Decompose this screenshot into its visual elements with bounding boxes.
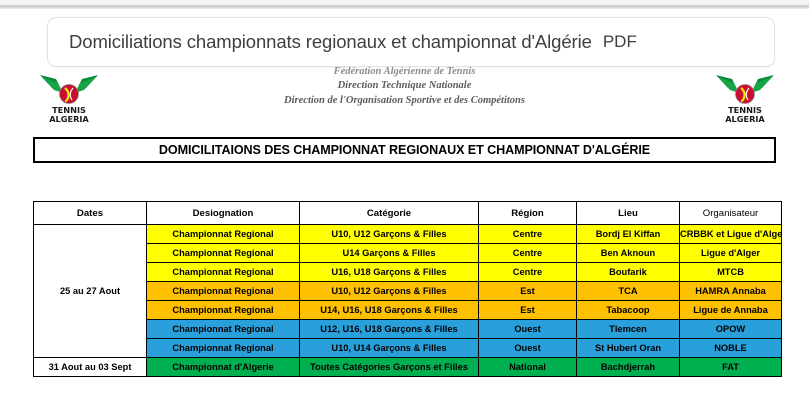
federation-heading-lines: Fédération Algérienne de Tennis Directio… xyxy=(0,65,809,108)
federation-subtitle-2: Direction de l'Organisation Sportive et … xyxy=(0,94,809,108)
overlay-title-text: Domiciliations championnats regionaux et… xyxy=(69,31,592,53)
table-body: 25 au 27 AoutChampionnat RegionalU10, U1… xyxy=(34,225,781,376)
cell-categorie: U10, U14 Garçons & Filles xyxy=(300,339,478,357)
col-header-dates: Dates xyxy=(34,202,146,224)
col-header-categorie: Catégorie xyxy=(300,202,478,224)
table-row: 31 Aout au 03 SeptChampionnat d'AlgerieT… xyxy=(34,358,781,376)
col-header-region: Région xyxy=(479,202,576,224)
cell-categorie: U12, U16, U18 Garçons & Filles xyxy=(300,320,478,338)
cell-dates: 31 Aout au 03 Sept xyxy=(34,358,146,376)
cell-lieu: TCA xyxy=(577,282,679,300)
cell-region: Est xyxy=(479,301,576,319)
cell-categorie: U14, U16, U18 Garçons & Filles xyxy=(300,301,478,319)
cell-designation: Championnat Regional xyxy=(147,282,299,300)
cell-region: Ouest xyxy=(479,339,576,357)
cell-designation: Championnat Regional xyxy=(147,301,299,319)
cell-lieu: St Hubert Oran xyxy=(577,339,679,357)
col-header-lieu: Lieu xyxy=(577,202,679,224)
document-title-text: DOMICILITAIONS DES CHAMPIONNAT REGIONAUX… xyxy=(159,143,650,157)
table-row: Championnat RegionalU10, U12 Garçons & F… xyxy=(34,282,781,300)
table-row: 25 au 27 AoutChampionnat RegionalU10, U1… xyxy=(34,225,781,243)
cell-region: National xyxy=(479,358,576,376)
table-row: Championnat RegionalU14 Garçons & Filles… xyxy=(34,244,781,262)
cell-designation: Championnat Regional xyxy=(147,263,299,281)
document-title-banner: DOMICILITAIONS DES CHAMPIONNAT REGIONAUX… xyxy=(33,137,776,163)
cell-region: Centre xyxy=(479,225,576,243)
cell-dates: 25 au 27 Aout xyxy=(34,225,146,357)
cell-region: Centre xyxy=(479,244,576,262)
federation-subtitle-1: Direction Technique Nationale xyxy=(0,79,809,93)
cell-designation: Championnat Regional xyxy=(147,339,299,357)
cell-organisateur: CRBBK et Ligue d'Alger xyxy=(680,225,781,243)
cell-designation: Championnat Regional xyxy=(147,320,299,338)
cell-lieu: Bachdjerrah xyxy=(577,358,679,376)
federation-name: Fédération Algérienne de Tennis xyxy=(0,65,809,79)
cell-organisateur: HAMRA Annaba xyxy=(680,282,781,300)
table-row: Championnat RegionalU14, U16, U18 Garçon… xyxy=(34,301,781,319)
table-row: Championnat RegionalU12, U16, U18 Garçon… xyxy=(34,320,781,338)
cell-region: Centre xyxy=(479,263,576,281)
cell-categorie: U10, U12 Garçons & Filles xyxy=(300,225,478,243)
cell-region: Est xyxy=(479,282,576,300)
schedule-table: Dates Desiognation Catégorie Région Lieu… xyxy=(33,201,782,377)
cell-lieu: Ben Aknoun xyxy=(577,244,679,262)
cell-categorie: U16, U18 Garçons & Filles xyxy=(300,263,478,281)
browser-chrome-strip xyxy=(0,0,809,9)
svg-text:ALGERIA: ALGERIA xyxy=(49,114,89,124)
cell-organisateur: Ligue de Annaba xyxy=(680,301,781,319)
cell-lieu: Boufarik xyxy=(577,263,679,281)
table-header-row: Dates Desiognation Catégorie Région Lieu… xyxy=(34,202,781,224)
cell-organisateur: NOBLE xyxy=(680,339,781,357)
col-header-organisateur: Organisateur xyxy=(680,202,781,224)
cell-lieu: Tlemcen xyxy=(577,320,679,338)
cell-region: Ouest xyxy=(479,320,576,338)
table-row: Championnat RegionalU10, U14 Garçons & F… xyxy=(34,339,781,357)
cell-categorie: U10, U12 Garçons & Filles xyxy=(300,282,478,300)
cell-lieu: Bordj El Kiffan xyxy=(577,225,679,243)
pdf-document-page: TENNIS ALGERIA TENNIS ALGERIA Fédération… xyxy=(0,9,809,402)
cell-designation: Championnat Regional xyxy=(147,225,299,243)
table-row: Championnat RegionalU16, U18 Garçons & F… xyxy=(34,263,781,281)
cell-organisateur: FAT xyxy=(680,358,781,376)
svg-text:ALGERIA: ALGERIA xyxy=(725,114,765,124)
cell-organisateur: OPOW xyxy=(680,320,781,338)
cell-organisateur: MTCB xyxy=(680,263,781,281)
cell-categorie: U14 Garçons & Filles xyxy=(300,244,478,262)
document-header: TENNIS ALGERIA TENNIS ALGERIA Fédération… xyxy=(0,65,809,127)
document-title-overlay[interactable]: Domiciliations championnats regionaux et… xyxy=(47,17,775,67)
overlay-pdf-badge: PDF xyxy=(603,32,637,52)
cell-lieu: Tabacoop xyxy=(577,301,679,319)
cell-designation: Championnat Regional xyxy=(147,244,299,262)
cell-categorie: Toutes Catégories Garçons et Filles xyxy=(300,358,478,376)
cell-designation: Championnat d'Algerie xyxy=(147,358,299,376)
cell-organisateur: Ligue d'Alger xyxy=(680,244,781,262)
col-header-designation: Desiognation xyxy=(147,202,299,224)
